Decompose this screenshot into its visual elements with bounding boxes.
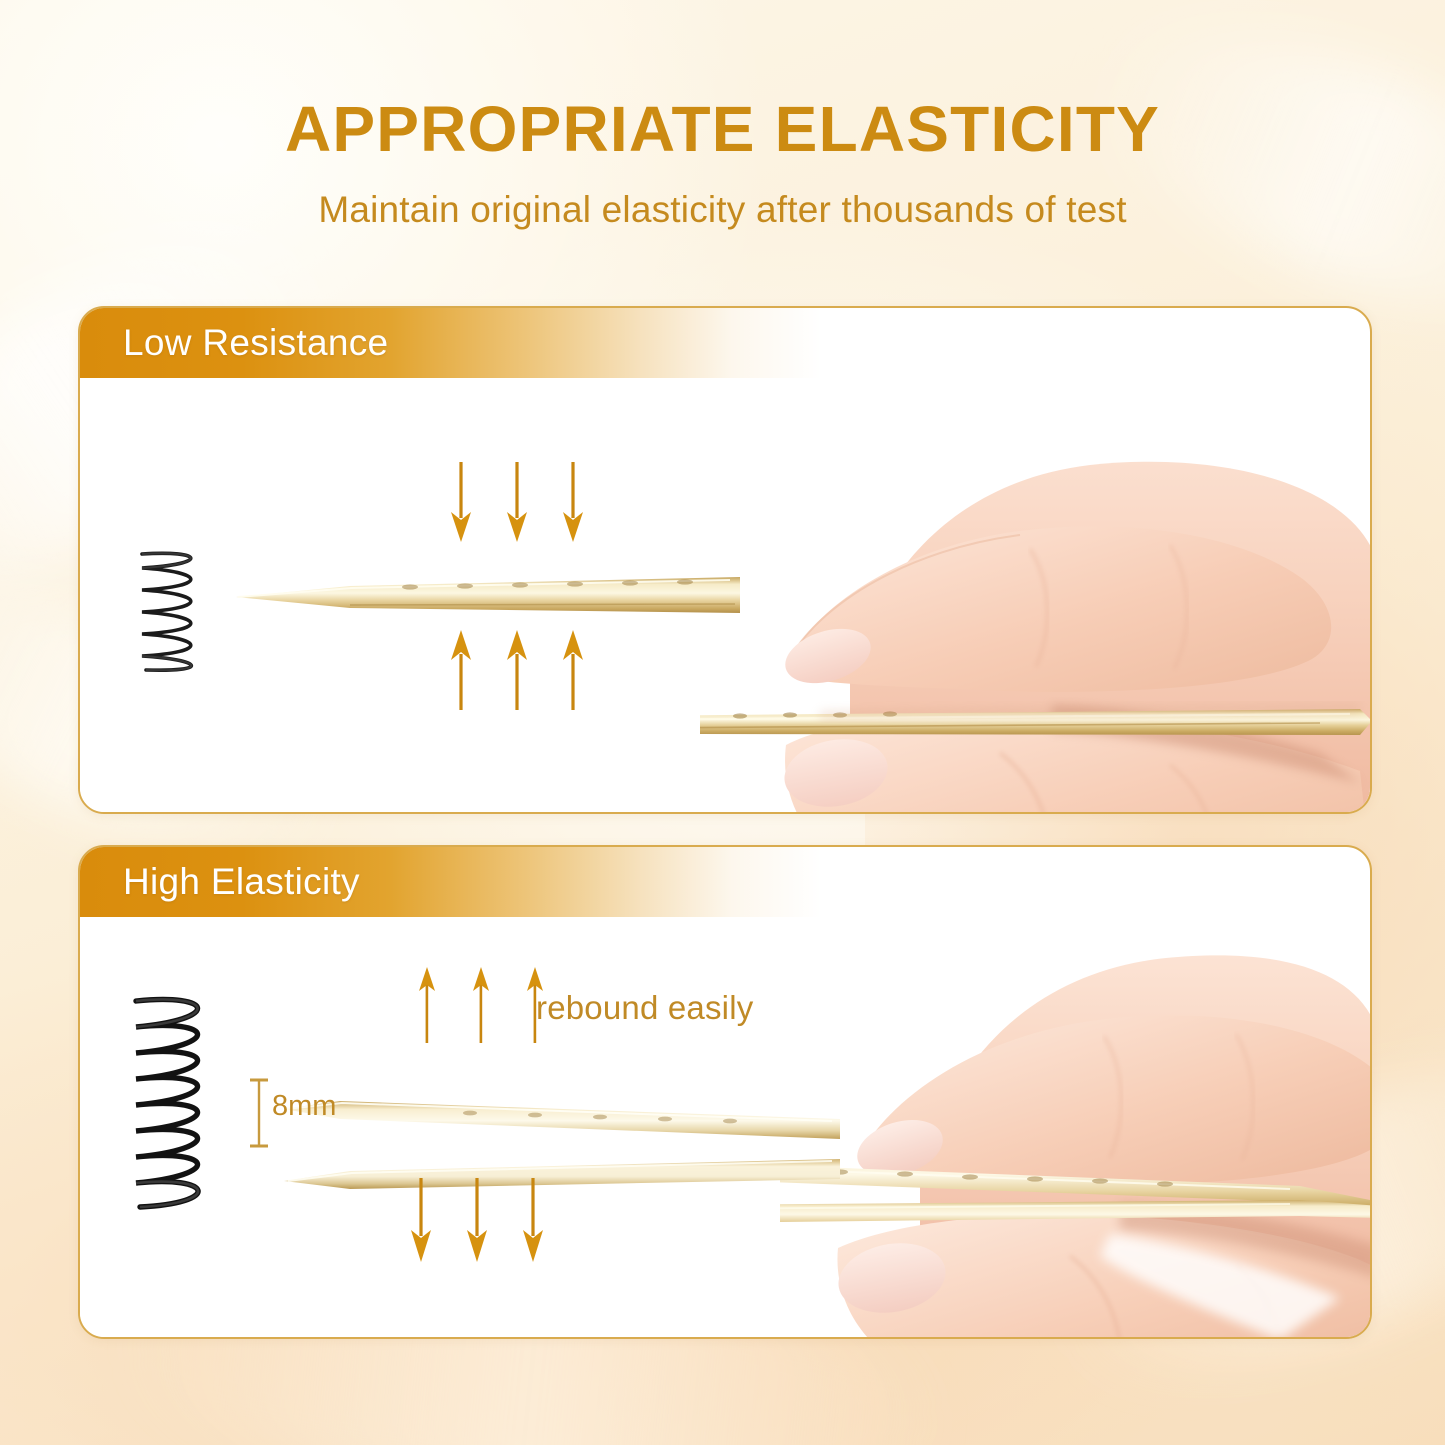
badge-label-low-resistance: Low Resistance bbox=[123, 322, 388, 364]
tweezers-open-tips bbox=[280, 1093, 840, 1213]
infographic-canvas: APPROPRIATE ELASTICITY Maintain original… bbox=[0, 0, 1445, 1445]
badge-low-resistance: Low Resistance bbox=[79, 307, 821, 378]
up-arrow-icon bbox=[415, 965, 439, 1043]
tweezers-closed-tip bbox=[230, 569, 740, 629]
up-arrow-icon bbox=[504, 628, 530, 710]
up-arrow-icon bbox=[560, 628, 586, 710]
compressed-spring-icon bbox=[122, 548, 232, 676]
rebound-label: rebound easily bbox=[536, 989, 753, 1027]
photo-hand-closed-tweezers bbox=[700, 453, 1372, 814]
up-arrows-icon-high bbox=[415, 965, 547, 1043]
badge-high-elasticity: High Elasticity bbox=[79, 846, 821, 917]
expanded-spring-icon bbox=[118, 995, 240, 1213]
up-arrow-icon bbox=[469, 965, 493, 1043]
down-arrow-icon bbox=[448, 462, 474, 544]
page-title: APPROPRIATE ELASTICITY bbox=[0, 96, 1445, 163]
photo-hand-open-tweezers bbox=[780, 948, 1372, 1339]
gap-measurement-label: 8mm bbox=[272, 1090, 336, 1123]
down-arrow-icon bbox=[520, 1178, 546, 1264]
panel-high-body bbox=[80, 918, 1370, 1337]
panel-low-resistance: Low Resistance bbox=[78, 306, 1372, 814]
down-arrow-icon bbox=[504, 462, 530, 544]
down-arrow-icon bbox=[464, 1178, 490, 1264]
down-arrows-icon-low bbox=[448, 462, 586, 544]
panel-low-body bbox=[80, 379, 1370, 812]
badge-label-high-elasticity: High Elasticity bbox=[123, 861, 360, 903]
gap-dimension-icon bbox=[248, 1077, 270, 1149]
up-arrows-icon-low bbox=[448, 628, 586, 710]
up-arrow-icon bbox=[448, 628, 474, 710]
down-arrow-icon bbox=[408, 1178, 434, 1264]
page-subtitle: Maintain original elasticity after thous… bbox=[0, 189, 1445, 231]
down-arrows-icon-high bbox=[408, 1178, 546, 1264]
header: APPROPRIATE ELASTICITY Maintain original… bbox=[0, 96, 1445, 231]
down-arrow-icon bbox=[560, 462, 586, 544]
